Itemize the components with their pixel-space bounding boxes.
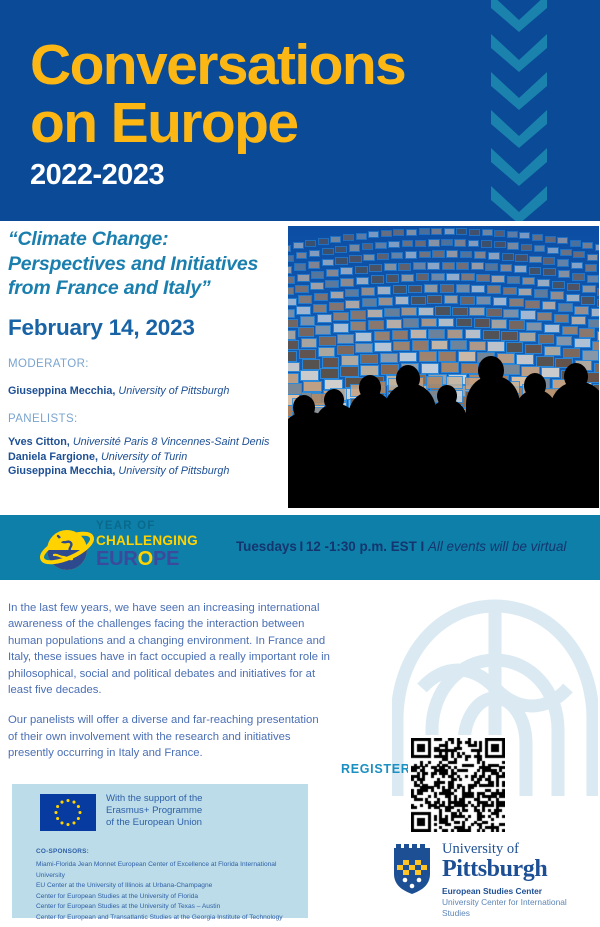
photo-tile bbox=[469, 307, 484, 316]
university-of-pittsburgh-logo: University of Pittsburgh European Studie… bbox=[392, 840, 592, 918]
photo-tile bbox=[362, 298, 377, 307]
logo-line-challenging: CHALLENGING bbox=[96, 533, 216, 549]
photo-tile bbox=[406, 229, 417, 236]
photo-tile bbox=[288, 319, 298, 328]
photo-tile bbox=[519, 232, 530, 239]
erasmus-support-text: With the support of the Erasmus+ Program… bbox=[106, 793, 203, 828]
photo-tile bbox=[410, 329, 427, 339]
photo-tile bbox=[532, 234, 543, 241]
photo-tile bbox=[431, 228, 442, 235]
silhouette-head bbox=[478, 356, 504, 385]
photo-tile bbox=[315, 325, 331, 335]
photo-tile bbox=[558, 303, 573, 312]
photo-tile bbox=[431, 273, 445, 281]
erasmus-line-1: With the support of the bbox=[106, 793, 203, 805]
page-title: Conversations on Europe bbox=[30, 36, 460, 152]
photo-tile bbox=[529, 267, 542, 275]
photo-tile bbox=[386, 274, 400, 282]
photo-tile bbox=[493, 297, 508, 306]
photo-tile bbox=[405, 251, 417, 259]
photo-tile bbox=[476, 274, 490, 282]
photo-tile bbox=[311, 271, 324, 279]
photo-tile bbox=[345, 289, 359, 298]
photo-tile bbox=[521, 244, 533, 251]
photo-tile bbox=[460, 251, 472, 259]
globe-orbit-icon bbox=[34, 524, 100, 574]
poster-header: Conversations on Europe 2022-2023 bbox=[0, 0, 600, 221]
photo-tile bbox=[435, 306, 450, 315]
description-text: In the last few years, we have seen an i… bbox=[8, 600, 330, 776]
cosponsor-item: Center for European Studies at the Unive… bbox=[36, 902, 306, 913]
photo-tile bbox=[386, 319, 402, 329]
photo-tile bbox=[550, 291, 564, 300]
panelist-name: Daniela Fargione, bbox=[8, 451, 98, 463]
erasmus-support-panel: With the support of the Erasmus+ Program… bbox=[12, 784, 308, 918]
panelist-entry: Giuseppina Mecchia, University of Pittsb… bbox=[8, 464, 229, 479]
photo-tile bbox=[441, 239, 453, 246]
photo-tile bbox=[313, 304, 328, 313]
panelist-affiliation: University of Pittsburgh bbox=[118, 465, 229, 477]
photo-tile bbox=[456, 318, 472, 328]
photo-tile bbox=[333, 312, 348, 321]
photo-tile bbox=[371, 275, 385, 283]
photo-tile bbox=[465, 329, 482, 339]
photo-tile bbox=[349, 255, 361, 263]
photo-tile bbox=[356, 233, 367, 240]
photo-tile bbox=[419, 228, 430, 235]
photo-tile bbox=[558, 270, 571, 278]
photo-tile bbox=[534, 245, 546, 252]
schedule-separator-2: I bbox=[417, 539, 428, 554]
photo-tile bbox=[469, 229, 480, 236]
photo-tile bbox=[468, 240, 480, 247]
photo-tile bbox=[288, 245, 291, 252]
photo-tile bbox=[329, 302, 344, 311]
photo-tile bbox=[309, 250, 321, 257]
photo-tile bbox=[355, 332, 372, 342]
photo-tile bbox=[471, 285, 485, 294]
photo-tile bbox=[446, 273, 460, 281]
photo-tile bbox=[391, 252, 403, 260]
photo-tile bbox=[301, 338, 318, 348]
photo-tile bbox=[502, 253, 514, 261]
photo-tile bbox=[384, 263, 397, 271]
photo-tile bbox=[587, 275, 600, 283]
photo-tile bbox=[450, 340, 467, 350]
photo-tile bbox=[293, 242, 304, 249]
photo-tile bbox=[485, 263, 498, 271]
photo-tile bbox=[544, 324, 560, 334]
title-line-2: on Europe bbox=[30, 94, 460, 152]
register-label[interactable]: REGISTER bbox=[341, 762, 411, 776]
photo-tile bbox=[571, 316, 586, 325]
photo-tile bbox=[591, 308, 599, 317]
photo-tile bbox=[375, 242, 387, 249]
photo-tile bbox=[427, 295, 442, 304]
chevron-decoration bbox=[488, 0, 558, 221]
photo-tile bbox=[310, 282, 324, 290]
pitt-center-line: European Studies Center bbox=[442, 886, 592, 897]
photo-tile bbox=[491, 275, 505, 283]
photo-tile bbox=[454, 239, 466, 246]
photo-tile bbox=[337, 345, 354, 355]
photo-tile bbox=[494, 230, 505, 237]
logo-europe-pre: EUR bbox=[96, 548, 138, 570]
photo-tile bbox=[537, 279, 551, 287]
photo-tile bbox=[361, 287, 375, 296]
photo-tile bbox=[392, 330, 409, 340]
photo-tile bbox=[288, 266, 292, 274]
photo-tile bbox=[554, 314, 569, 323]
photo-tile bbox=[340, 278, 354, 286]
photo-tile bbox=[381, 230, 392, 237]
photo-tile bbox=[432, 250, 444, 258]
photo-tile bbox=[368, 320, 384, 330]
photo-tile bbox=[393, 229, 404, 236]
photo-tile bbox=[408, 285, 422, 294]
photo-tile bbox=[582, 242, 593, 249]
photo-tile bbox=[526, 322, 542, 332]
photo-tile bbox=[444, 228, 455, 235]
photo-tile bbox=[544, 346, 561, 356]
logo-line-europe: EUROPE bbox=[96, 549, 216, 570]
photo-tile bbox=[297, 274, 310, 282]
photo-tile bbox=[319, 336, 336, 346]
moderator-entry: Giuseppina Mecchia, University of Pittsb… bbox=[8, 384, 229, 399]
photo-tile bbox=[419, 251, 431, 259]
silhouette-head bbox=[524, 373, 546, 398]
photo-tile bbox=[581, 296, 595, 305]
photo-tile bbox=[368, 231, 379, 238]
photo-tile bbox=[446, 250, 458, 258]
photo-tile bbox=[337, 334, 354, 344]
photo-tile bbox=[388, 241, 400, 248]
pitt-name-line: Pittsburgh bbox=[442, 857, 592, 882]
photo-tile bbox=[424, 284, 438, 293]
photo-tile bbox=[574, 306, 589, 315]
photo-tile bbox=[597, 299, 599, 308]
photo-tile bbox=[560, 249, 572, 256]
silhouette-head bbox=[324, 389, 344, 412]
silhouette-figure bbox=[428, 400, 468, 508]
photo-tile bbox=[374, 342, 391, 352]
photo-tile bbox=[288, 340, 299, 350]
photo-tile bbox=[545, 236, 556, 243]
photo-tile bbox=[349, 244, 361, 251]
photo-tile bbox=[503, 309, 518, 318]
event-title-line-1: “Climate Change: bbox=[8, 228, 168, 250]
photo-tile bbox=[519, 332, 536, 342]
photo-tile bbox=[491, 319, 507, 329]
photo-tile bbox=[557, 259, 569, 267]
photo-tile bbox=[506, 342, 523, 352]
photo-tile bbox=[296, 252, 308, 259]
photo-tile bbox=[317, 314, 332, 323]
photo-tile bbox=[438, 318, 454, 328]
photo-tile bbox=[421, 318, 437, 328]
pitt-ucis-line: University Center for International Stud… bbox=[442, 897, 592, 919]
photo-tile bbox=[412, 340, 429, 350]
event-title: “Climate Change: Perspectives and Initia… bbox=[8, 227, 284, 301]
photo-tile bbox=[543, 257, 555, 265]
photo-tile bbox=[501, 331, 518, 341]
photo-tile bbox=[333, 323, 349, 333]
photo-tile bbox=[416, 273, 430, 281]
photo-tile bbox=[474, 318, 490, 328]
schedule-note: All events will be virtual bbox=[428, 539, 566, 554]
photo-tile bbox=[440, 284, 454, 293]
photo-tile bbox=[288, 276, 295, 284]
photo-tile bbox=[305, 240, 316, 247]
photo-tile bbox=[460, 296, 475, 305]
photo-tile bbox=[538, 334, 555, 344]
photo-tile bbox=[543, 268, 556, 276]
photo-tile bbox=[534, 289, 548, 298]
photo-tile bbox=[483, 330, 500, 340]
photo-tile bbox=[597, 331, 599, 341]
photo-tile bbox=[322, 248, 334, 255]
photo-tile bbox=[343, 234, 354, 241]
photo-tile bbox=[288, 298, 297, 307]
photo-tile bbox=[398, 263, 411, 271]
event-title-line-3: from France and Italy” bbox=[8, 277, 211, 299]
logo-europe-post: PE bbox=[153, 548, 179, 570]
cosponsors-label: CO-SPONSORS: bbox=[36, 848, 89, 855]
photo-tile bbox=[335, 246, 347, 253]
chevron-down-icon bbox=[488, 180, 550, 221]
panelist-name: Giuseppina Mecchia, bbox=[8, 465, 115, 477]
photo-tile bbox=[296, 306, 311, 315]
photo-tile bbox=[288, 309, 295, 318]
photo-tile bbox=[563, 348, 580, 358]
cosponsor-item: Center for European Studies at the Unive… bbox=[36, 892, 306, 903]
photo-tile bbox=[552, 281, 566, 289]
poster: Conversations on Europe 2022-2023 “Clima… bbox=[0, 0, 600, 927]
photo-tile bbox=[378, 297, 393, 306]
photo-tile bbox=[401, 274, 415, 282]
erasmus-line-3: of the European Union bbox=[106, 817, 203, 829]
silhouette-head bbox=[437, 385, 457, 408]
logo-europe-o: O bbox=[138, 548, 153, 570]
photo-tile bbox=[456, 228, 467, 235]
photo-tile bbox=[507, 231, 518, 238]
photo-tile bbox=[525, 300, 540, 309]
description-paragraph-1: In the last few years, we have seen an i… bbox=[8, 600, 330, 698]
photo-tile bbox=[362, 243, 374, 250]
photo-tile bbox=[345, 300, 360, 309]
photo-tile bbox=[487, 341, 504, 351]
photo-tile bbox=[537, 312, 552, 321]
qr-code-icon[interactable] bbox=[408, 735, 508, 835]
photo-tile bbox=[456, 262, 469, 270]
panelist-entry: Yves Citton, Université Paris 8 Vincenne… bbox=[8, 435, 269, 450]
silhouette-figure bbox=[550, 382, 599, 508]
photo-tile bbox=[418, 307, 433, 316]
photo-tile bbox=[393, 285, 407, 294]
photo-tile bbox=[330, 291, 344, 300]
description-paragraph-2: Our panelists will offer a diverse and f… bbox=[8, 712, 330, 761]
photo-tile bbox=[322, 259, 334, 267]
photo-tile bbox=[442, 262, 455, 270]
photo-tile bbox=[486, 308, 501, 317]
photo-tile bbox=[597, 288, 599, 296]
photo-tile bbox=[482, 229, 493, 236]
photo-tile bbox=[403, 318, 419, 328]
photo-tile bbox=[367, 309, 382, 318]
photo-tile bbox=[413, 262, 426, 270]
photo-tile bbox=[570, 240, 581, 247]
photo-tile bbox=[461, 273, 475, 281]
photo-tile bbox=[529, 256, 541, 264]
panelist-entry: Daniela Fargione, University of Turin bbox=[8, 450, 187, 465]
photo-tile bbox=[356, 277, 370, 285]
schedule-separator-1: I bbox=[297, 539, 306, 554]
photo-tile bbox=[298, 295, 312, 304]
series-years: 2022-2023 bbox=[30, 160, 164, 190]
silhouette-head bbox=[293, 395, 315, 420]
photo-tile bbox=[572, 273, 585, 281]
photo-tile bbox=[514, 265, 527, 273]
photo-tile bbox=[582, 285, 596, 293]
photo-tile bbox=[557, 237, 568, 244]
photo-tile bbox=[395, 296, 410, 305]
photo-tile bbox=[556, 336, 573, 346]
schedule-time: 12 -1:30 p.m. EST bbox=[306, 539, 417, 554]
photo-tile bbox=[452, 307, 467, 316]
photo-tile bbox=[350, 310, 365, 319]
photo-tile bbox=[401, 307, 416, 316]
photo-tile bbox=[525, 344, 542, 354]
photo-tile bbox=[509, 320, 525, 330]
photo-tile bbox=[456, 284, 470, 293]
photo-tile bbox=[308, 261, 320, 269]
photo-tile bbox=[288, 287, 294, 295]
photo-tile bbox=[474, 251, 486, 259]
photo-tile bbox=[500, 264, 513, 272]
cosponsor-item: EU Center at the University of Illinois … bbox=[36, 881, 306, 892]
photo-tile bbox=[335, 257, 347, 265]
photo-tile bbox=[325, 280, 339, 288]
year-of-challenging-europe-logo: YEAR OF CHALLENGING EUROPE bbox=[34, 520, 214, 576]
photo-tile bbox=[518, 288, 532, 297]
event-date: February 14, 2023 bbox=[8, 315, 195, 341]
photo-tile bbox=[330, 236, 341, 243]
cosponsor-item: Miami-Florida Jean Monnet European Cente… bbox=[36, 860, 306, 881]
photo-tile bbox=[402, 240, 414, 247]
photo-tile bbox=[507, 276, 521, 284]
moderator-affiliation: University of Pittsburgh bbox=[118, 385, 229, 397]
photo-tile bbox=[431, 340, 448, 350]
photo-tile bbox=[585, 264, 597, 272]
moderator-name: Giuseppina Mecchia, bbox=[8, 385, 115, 397]
photo-tile bbox=[566, 294, 580, 303]
erasmus-line-2: Erasmus+ Programme bbox=[106, 805, 203, 817]
silhouette-head bbox=[359, 375, 381, 400]
eu-flag-icon bbox=[40, 794, 96, 831]
photo-tile bbox=[374, 331, 391, 341]
event-photo bbox=[288, 226, 599, 508]
pitt-shield-icon bbox=[392, 844, 432, 894]
photo-tile bbox=[471, 262, 484, 270]
photo-tile bbox=[318, 347, 335, 357]
photo-tile bbox=[573, 251, 585, 258]
schedule-band: YEAR OF CHALLENGING EUROPE Tuesdays I 12… bbox=[0, 515, 600, 580]
photo-tile bbox=[314, 293, 328, 302]
photo-tile bbox=[469, 341, 486, 351]
photo-tile bbox=[428, 329, 445, 339]
photo-tile bbox=[587, 254, 599, 261]
photo-tile bbox=[318, 238, 329, 245]
photo-tile bbox=[487, 285, 501, 294]
photo-tile bbox=[588, 319, 599, 328]
photo-tile bbox=[522, 277, 536, 285]
photo-tile bbox=[384, 308, 399, 317]
photo-tile bbox=[355, 266, 368, 274]
photo-tile bbox=[350, 321, 366, 331]
photo-tile bbox=[481, 240, 493, 247]
photo-tile bbox=[547, 247, 559, 254]
photo-tile bbox=[295, 285, 309, 293]
logo-line-year-of: YEAR OF bbox=[96, 520, 216, 533]
photo-tile bbox=[571, 262, 583, 270]
photo-tile bbox=[427, 262, 440, 270]
schedule-day: Tuesdays bbox=[236, 539, 297, 554]
photo-tile bbox=[476, 296, 491, 305]
photo-tile bbox=[298, 327, 314, 337]
cosponsors-list: Miami-Florida Jean Monnet European Cente… bbox=[36, 860, 306, 924]
photo-tile bbox=[288, 330, 296, 340]
photo-tile bbox=[377, 286, 391, 295]
photo-tile bbox=[503, 287, 517, 296]
panelist-affiliation: University of Turin bbox=[101, 451, 187, 463]
photo-tile bbox=[567, 283, 581, 291]
moderator-label: MODERATOR: bbox=[8, 358, 89, 370]
photo-tile bbox=[428, 239, 440, 246]
photo-tile bbox=[562, 326, 578, 336]
pitt-university-line: University of bbox=[442, 842, 592, 857]
cosponsor-item: Center for European and Transatlantic St… bbox=[36, 913, 306, 924]
photo-tile bbox=[393, 341, 410, 351]
photo-tile bbox=[288, 255, 294, 262]
photo-tile bbox=[515, 254, 527, 262]
photo-tile bbox=[574, 338, 591, 348]
photo-tile bbox=[494, 241, 506, 248]
photo-tile bbox=[595, 244, 599, 251]
schedule-text: Tuesdays I 12 -1:30 p.m. EST I All event… bbox=[236, 539, 566, 554]
photo-tile bbox=[542, 301, 557, 310]
panelist-name: Yves Citton, bbox=[8, 436, 70, 448]
photo-tile bbox=[363, 254, 375, 262]
photo-tile bbox=[447, 329, 464, 339]
photo-tile bbox=[415, 240, 427, 247]
photo-tile bbox=[507, 242, 519, 249]
photo-tile bbox=[369, 264, 382, 272]
photo-tile bbox=[579, 328, 595, 338]
photo-tile bbox=[355, 343, 372, 353]
panelist-affiliation: Université Paris 8 Vincennes-Saint Denis bbox=[73, 436, 270, 448]
photo-tile bbox=[411, 296, 426, 305]
event-title-line-2: Perspectives and Initiatives bbox=[8, 253, 258, 275]
photo-tile bbox=[377, 253, 389, 261]
photo-tile bbox=[488, 252, 500, 260]
photo-tile bbox=[509, 298, 524, 307]
photo-tile bbox=[444, 295, 459, 304]
photo-tile bbox=[300, 316, 315, 325]
silhouette-figure bbox=[466, 376, 520, 508]
pitt-wordmark: University of Pittsburgh European Studie… bbox=[442, 842, 592, 919]
photo-tile bbox=[340, 267, 353, 275]
photo-tile bbox=[294, 263, 306, 271]
